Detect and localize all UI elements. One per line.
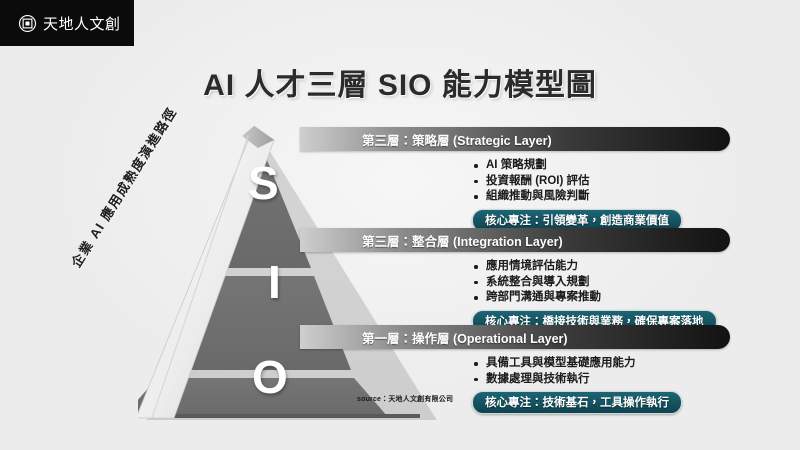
slide-canvas: 天地人文創 AI 人才三層 SIO 能力模型圖 xyxy=(0,0,800,450)
list-item: 跨部門溝通與專案推動 xyxy=(472,290,730,306)
list-item: 應用情境評估能力 xyxy=(472,259,730,275)
list-item: 系統整合與導入規劃 xyxy=(472,275,730,291)
tier-integration-bullets: 應用情境評估能力 系統整合與導入規劃 跨部門溝通與專案推動 xyxy=(472,259,730,306)
tier-strategic-header: 第三層：策略層 (Strategic Layer) xyxy=(300,127,730,151)
list-item: 具備工具與模型基礎應用能力 xyxy=(472,356,730,372)
square-in-circle-icon xyxy=(18,14,37,33)
tier-operational-focus-badge: 核心專注：技術基石，工具操作執行 xyxy=(472,391,682,414)
list-item: 組織推動與風險判斷 xyxy=(472,189,730,205)
tier-operational: 第一層：操作層 (Operational Layer) 具備工具與模型基礎應用能… xyxy=(300,325,730,414)
list-item: AI 策略規劃 xyxy=(472,158,730,174)
tier-strategic-body: AI 策略規劃 投資報酬 (ROI) 評估 組織推動與風險判斷 核心專注：引領變… xyxy=(472,158,730,232)
tier-operational-bullets: 具備工具與模型基礎應用能力 數據處理與技術執行 xyxy=(472,356,730,387)
tier-operational-header: 第一層：操作層 (Operational Layer) xyxy=(300,325,730,349)
tier-strategic-header-text: 第三層：策略層 (Strategic Layer) xyxy=(362,130,552,149)
tier-operational-header-text: 第一層：操作層 (Operational Layer) xyxy=(362,328,568,347)
tier-operational-body: 具備工具與模型基礎應用能力 數據處理與技術執行 核心專注：技術基石，工具操作執行 xyxy=(472,356,730,414)
brand-logo: 天地人文創 xyxy=(0,0,134,46)
tier-strategic-bullets: AI 策略規劃 投資報酬 (ROI) 評估 組織推動與風險判斷 xyxy=(472,158,730,205)
list-item: 投資報酬 (ROI) 評估 xyxy=(472,174,730,190)
tier-integration-body: 應用情境評估能力 系統整合與導入規劃 跨部門溝通與專案推動 核心專注：橋接技術與… xyxy=(472,259,730,333)
tier-integration-header: 第三層：整合層 (Integration Layer) xyxy=(300,228,730,252)
brand-logo-text: 天地人文創 xyxy=(43,13,121,34)
tier-integration-header-text: 第三層：整合層 (Integration Layer) xyxy=(362,231,563,250)
page-title: AI 人才三層 SIO 能力模型圖 xyxy=(0,60,800,104)
tier-strategic: 第三層：策略層 (Strategic Layer) AI 策略規劃 投資報酬 (… xyxy=(300,127,730,232)
list-item: 數據處理與技術執行 xyxy=(472,372,730,388)
tier-integration: 第三層：整合層 (Integration Layer) 應用情境評估能力 系統整… xyxy=(300,228,730,333)
